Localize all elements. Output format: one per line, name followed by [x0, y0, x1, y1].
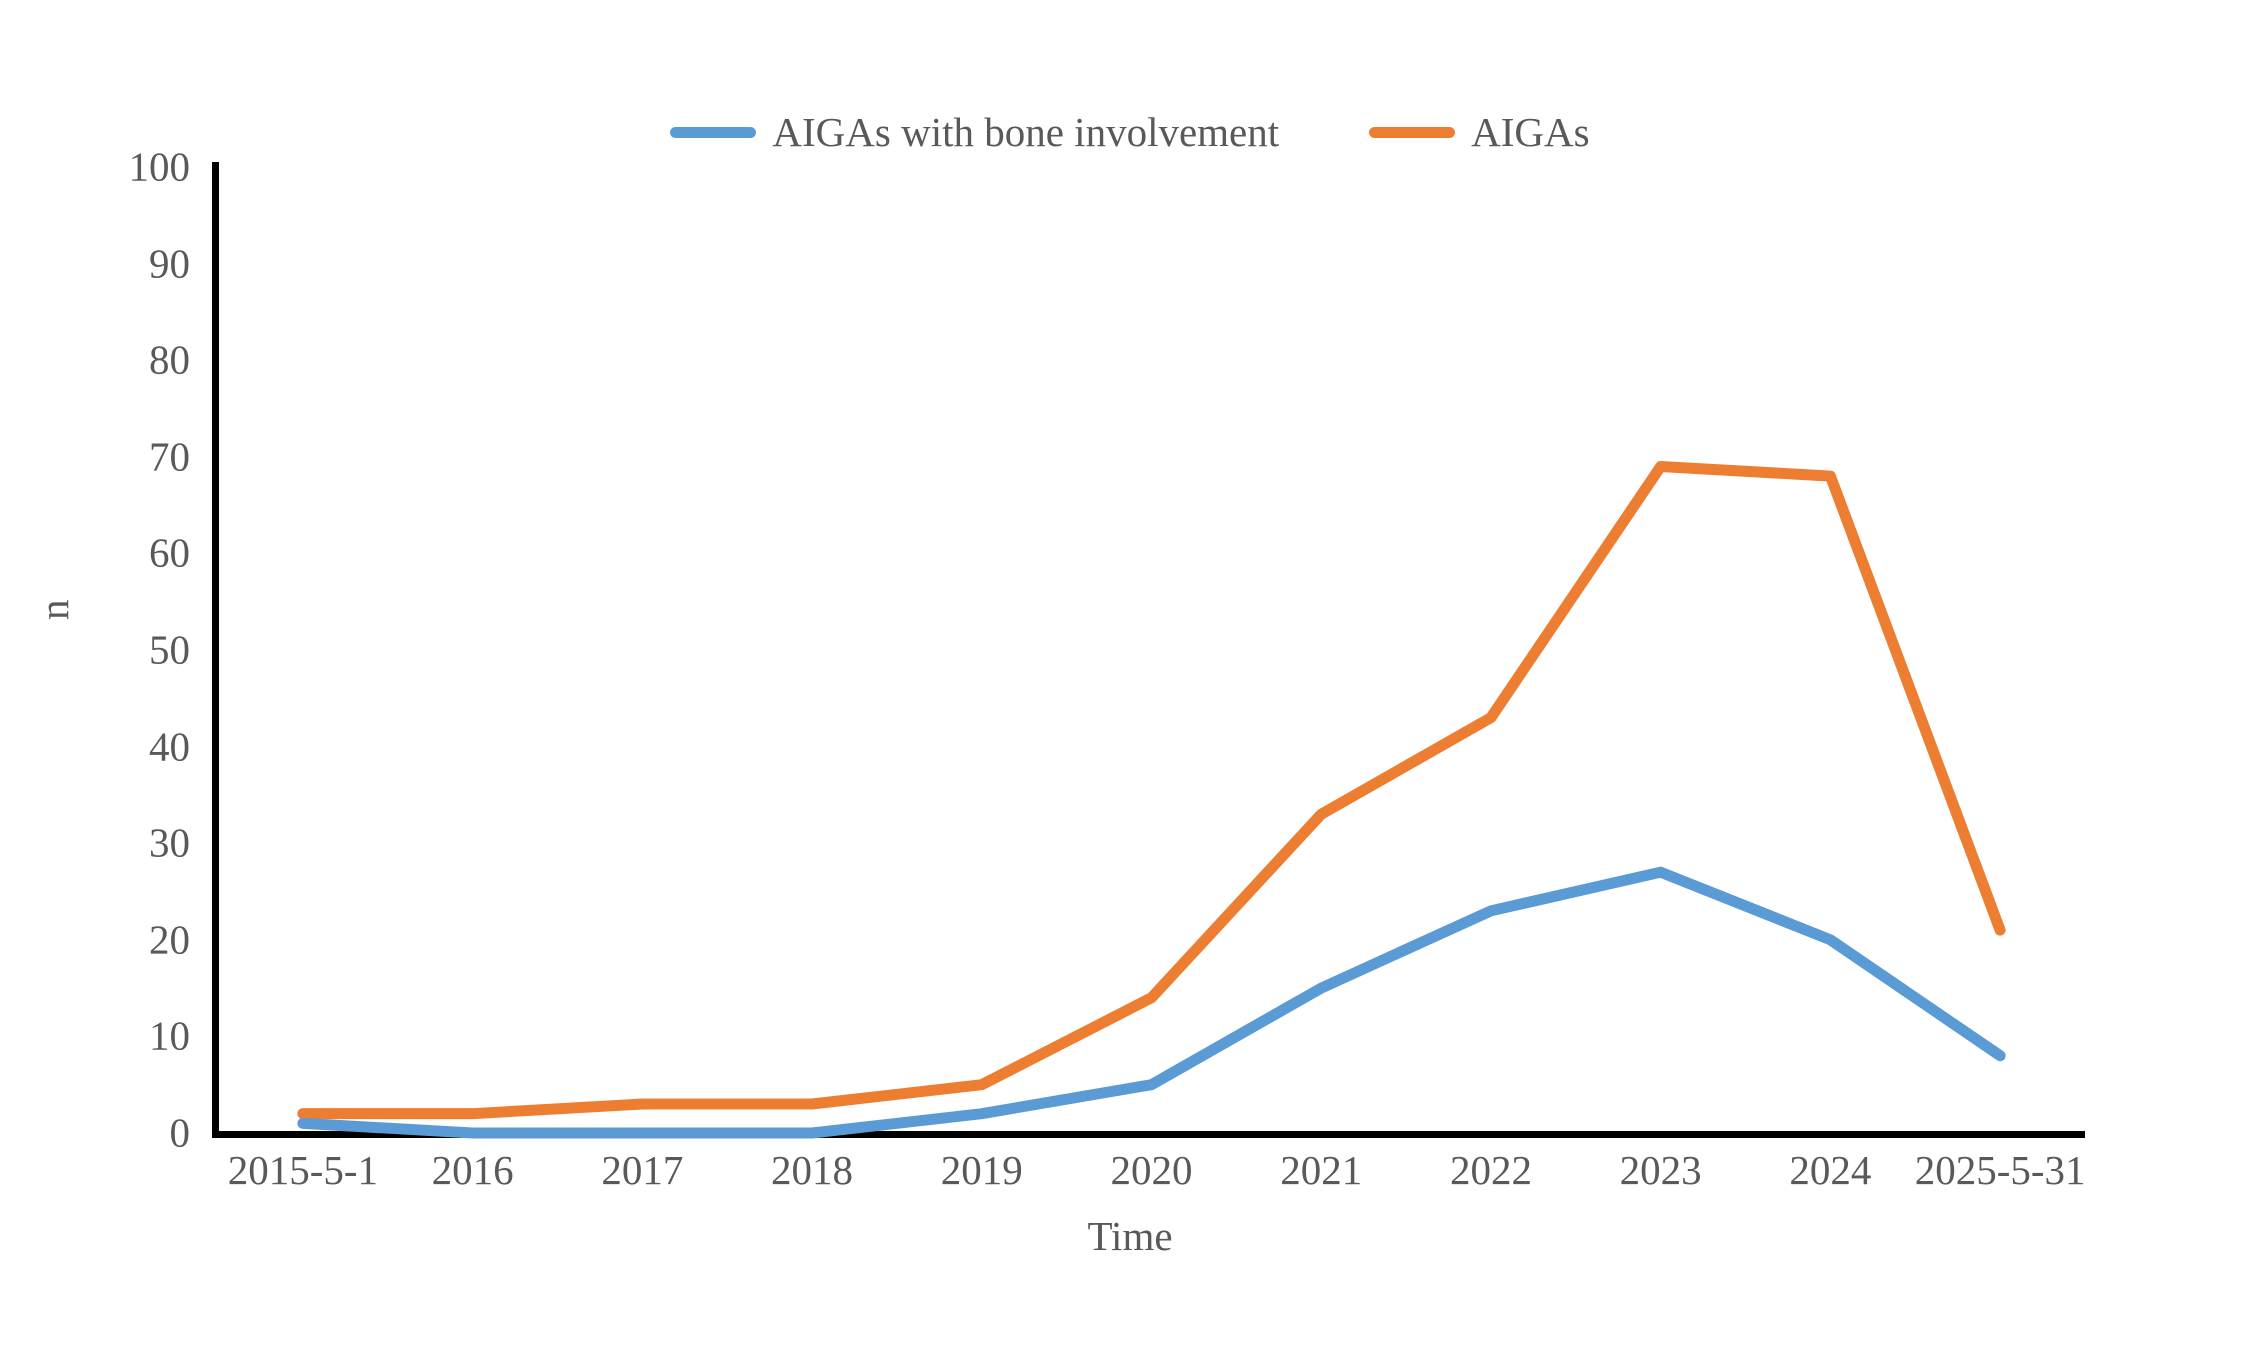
x-axis-tick-labels: 2015-5-120162017201820192020202120222023…: [218, 1150, 2085, 1210]
y-tick-label: 100: [60, 147, 190, 188]
chart-legend: AIGAs with bone involvement AIGAs: [0, 112, 2260, 153]
x-tick-label: 2025-5-31: [1915, 1150, 2086, 1191]
line-chart: AIGAs with bone involvement AIGAs 010203…: [0, 0, 2260, 1357]
y-tick-label: 20: [60, 919, 190, 960]
legend-item-aigas-with-bone-involvement[interactable]: AIGAs with bone involvement: [670, 112, 1279, 153]
y-tick-label: 40: [60, 726, 190, 767]
y-tick-label: 50: [60, 630, 190, 671]
y-tick-label: 90: [60, 243, 190, 284]
legend-swatch-blue: [670, 127, 756, 138]
y-tick-label: 0: [60, 1113, 190, 1154]
x-tick-label: 2024: [1789, 1150, 1871, 1191]
legend-label-aigas: AIGAs: [1471, 112, 1589, 153]
x-tick-label: 2019: [941, 1150, 1023, 1191]
y-tick-label: 80: [60, 340, 190, 381]
x-tick-label: 2023: [1620, 1150, 1702, 1191]
x-tick-label: 2022: [1450, 1150, 1532, 1191]
y-tick-label: 70: [60, 436, 190, 477]
x-tick-label: 2020: [1111, 1150, 1193, 1191]
legend-swatch-orange: [1369, 127, 1455, 138]
legend-item-aigas[interactable]: AIGAs: [1369, 112, 1589, 153]
plot-area: [218, 167, 2085, 1133]
series-svg: [218, 167, 2085, 1133]
legend-label-aigas-with-bone-involvement: AIGAs with bone involvement: [772, 112, 1279, 153]
y-axis-tick-labels: 0102030405060708090100: [60, 167, 208, 1133]
x-tick-label: 2018: [771, 1150, 853, 1191]
y-tick-label: 30: [60, 823, 190, 864]
x-tick-label: 2015-5-1: [228, 1150, 378, 1191]
series-line-aigas: [303, 466, 2000, 1113]
y-tick-label: 60: [60, 533, 190, 574]
x-axis-title: Time: [0, 1212, 2260, 1260]
x-tick-label: 2021: [1280, 1150, 1362, 1191]
x-tick-label: 2017: [601, 1150, 683, 1191]
y-axis-title: n: [30, 600, 78, 621]
x-tick-label: 2016: [432, 1150, 514, 1191]
y-tick-label: 10: [60, 1016, 190, 1057]
